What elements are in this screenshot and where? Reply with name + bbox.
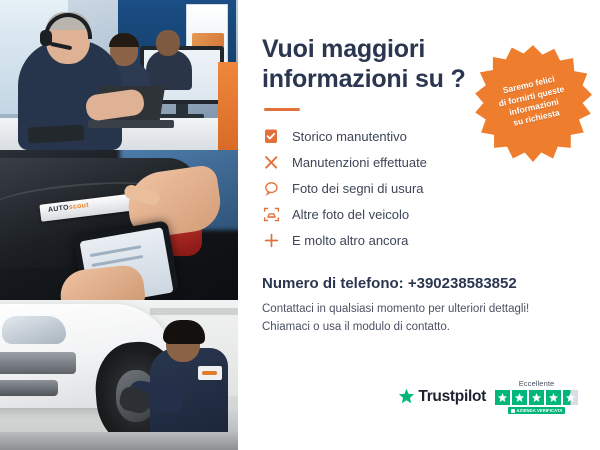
list-item-label: Altre foto del veicolo: [292, 207, 409, 222]
star-rating: [495, 390, 578, 405]
photo-column: AUTOscout: [0, 0, 238, 450]
advert-banner: AUTOscout: [0, 0, 600, 450]
rating-word: Eccellente: [519, 379, 555, 388]
star-half: [563, 390, 578, 405]
star-full: [512, 390, 527, 405]
trustpilot-widget[interactable]: Trustpilot Eccellente AZIENDA VERIFICATA: [398, 379, 578, 414]
speech-bubble-icon: [262, 179, 280, 197]
list-item: Altre foto del veicolo: [262, 201, 578, 227]
badge-content: Saremo felici di fornirti queste informa…: [462, 32, 600, 174]
list-item-label: Foto dei segni di usura: [292, 181, 424, 196]
vehicle-lift-platform: [0, 432, 238, 450]
star-full: [495, 390, 510, 405]
car-grille-lower: [0, 380, 58, 396]
phone-number[interactable]: +390238583852: [408, 275, 517, 292]
badge-text: Saremo felici di fornirti queste informa…: [495, 72, 571, 132]
background-agent-three-head: [156, 30, 180, 56]
orange-partition: [218, 62, 238, 150]
clipboard-check-icon: [262, 127, 280, 145]
check-icon: [511, 409, 515, 413]
mechanic-hair: [163, 320, 205, 344]
photo-call-center-agents-with-headsets: [0, 0, 238, 150]
phone-label: Numero di telefono:: [262, 275, 404, 292]
list-item-label: E molto altro ancora: [292, 233, 408, 248]
uniform-logo-patch: [198, 366, 222, 380]
phone-screen-line: [91, 255, 143, 267]
list-item: E molto altro ancora: [262, 227, 578, 253]
background-agent-three: [146, 50, 192, 90]
list-item: Foto dei segni di usura: [262, 175, 578, 201]
laptop-keyboard-base: [88, 120, 174, 128]
verified-badge: AZIENDA VERIFICATA: [508, 407, 566, 414]
plus-icon: [262, 231, 280, 249]
phone-screen-line: [90, 245, 142, 257]
desk-tablet: [28, 125, 85, 144]
photo-mechanic-working-on-car-wheel-in-garage: [0, 300, 238, 450]
contact-instructions-line-1: Contattaci in qualsiasi momento per ulte…: [262, 301, 578, 319]
star-full: [546, 390, 561, 405]
page-title: Vuoi maggiori informazioni su ?: [262, 34, 477, 94]
trustpilot-logo: Trustpilot: [398, 388, 486, 406]
ruler-brand-text: AUTOscout: [48, 202, 90, 214]
content-panel: Vuoi maggiori informazioni su ? Storico …: [238, 0, 600, 450]
car-grille-upper: [0, 352, 76, 374]
contact-instructions: Contattaci in qualsiasi momento per ulte…: [262, 301, 578, 337]
phone-number-heading: Numero di telefono: +390238583852: [262, 275, 578, 292]
photo-vehicle-damage-inspection-with-tablet: AUTOscout: [0, 150, 238, 300]
car-headlamp: [2, 316, 66, 344]
inspector-hand-lower: [58, 264, 146, 300]
car-scan-frame-icon: [262, 205, 280, 223]
list-item-label: Storico manutentivo: [292, 129, 407, 144]
star-full: [529, 390, 544, 405]
trustpilot-rating: Eccellente AZIENDA VERIFICATA: [495, 379, 578, 414]
contact-instructions-line-2: Chiamaci o usa il modulo di contatto.: [262, 319, 578, 337]
trustpilot-brand-name: Trustpilot: [418, 388, 486, 406]
trustpilot-star-icon: [398, 388, 415, 405]
list-item-label: Manutenzioni effettuate: [292, 155, 427, 170]
title-divider: [264, 108, 300, 111]
verified-label: AZIENDA VERIFICATA: [517, 408, 563, 413]
tools-cross-icon: [262, 153, 280, 171]
callout-badge: Saremo felici di fornirti queste informa…: [474, 44, 592, 162]
garage-shelf: [150, 308, 238, 315]
